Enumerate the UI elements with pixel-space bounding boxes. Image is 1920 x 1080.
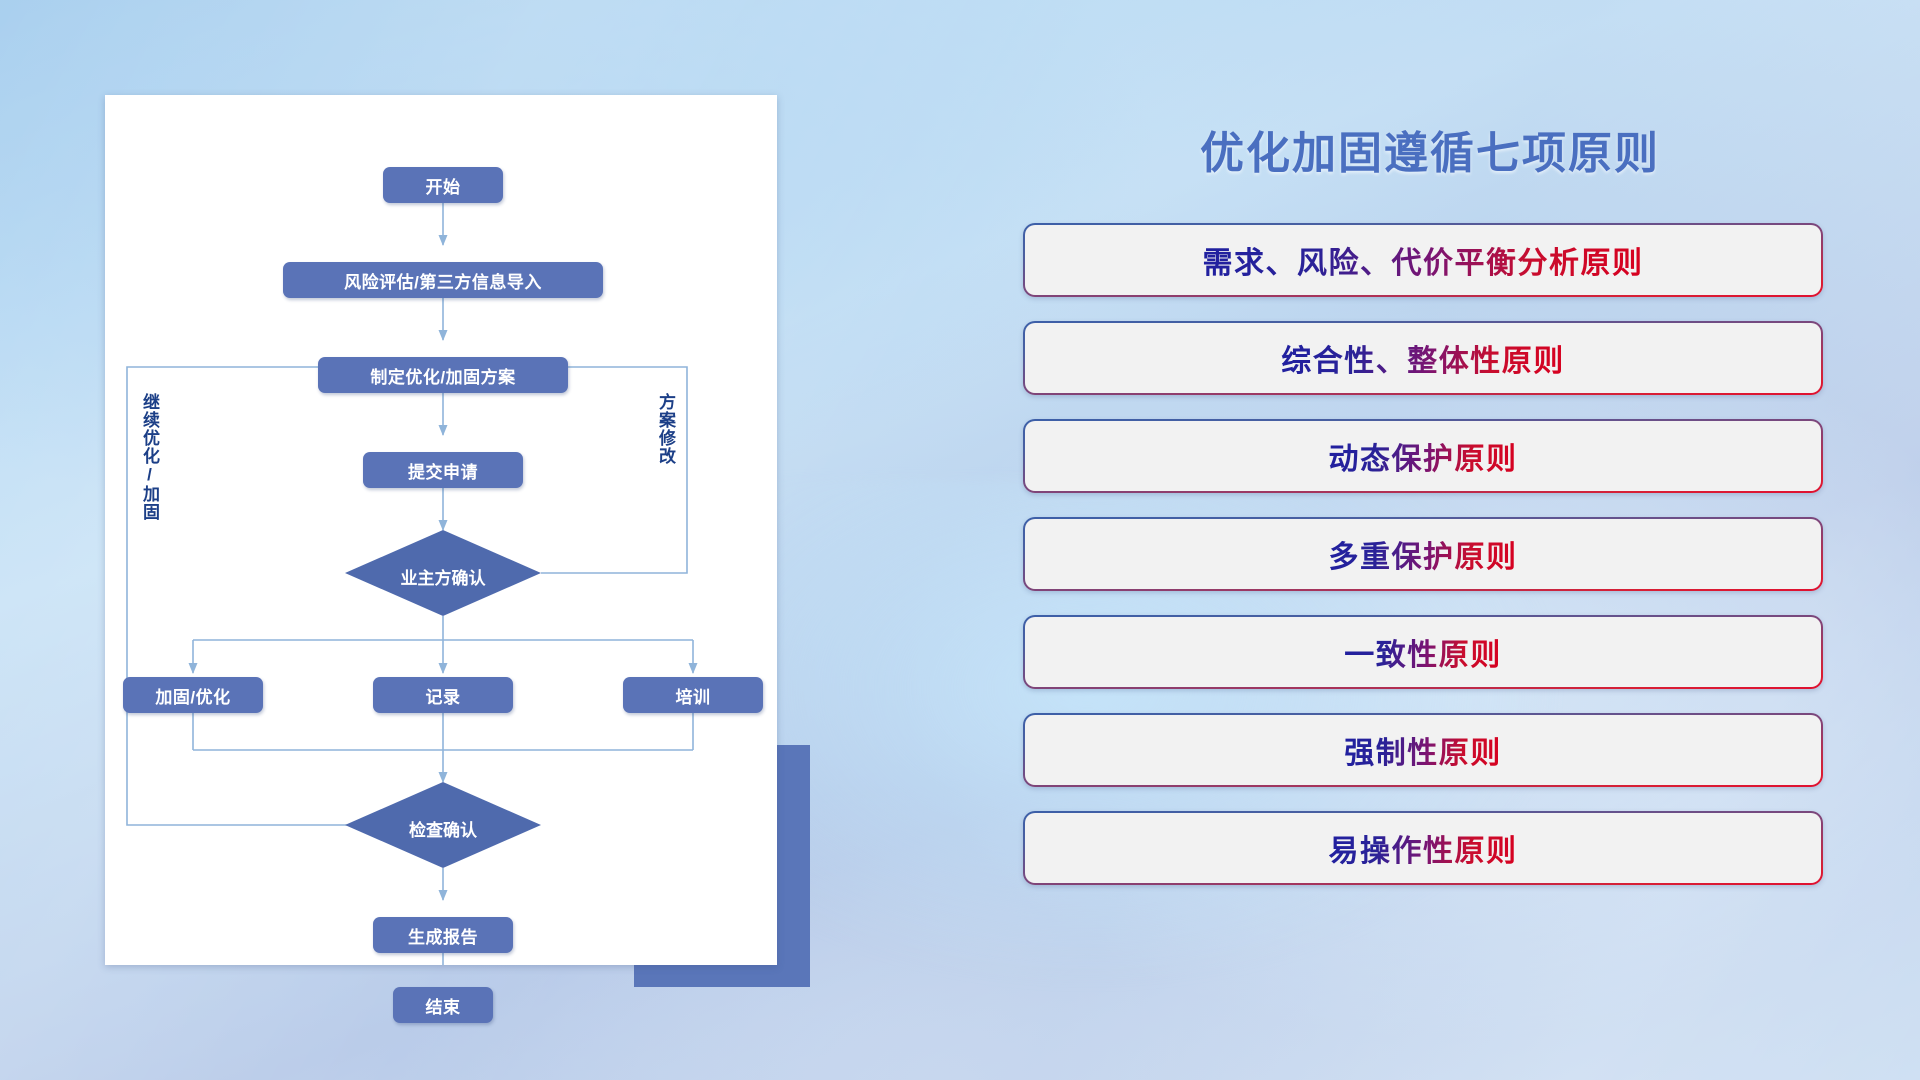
principle-card-6-label: 强制性原则 bbox=[1344, 728, 1502, 772]
flow-node-start-label: 开始 bbox=[426, 173, 461, 198]
principle-card-6-body: 强制性原则 bbox=[1025, 715, 1821, 785]
principle-card-2[interactable]: 综合性、整体性原则 bbox=[1023, 321, 1823, 395]
flow-node-end[interactable]: 结束 bbox=[393, 987, 493, 1023]
flow-node-plan[interactable]: 制定优化/加固方案 bbox=[318, 357, 568, 393]
principle-card-5[interactable]: 一致性原则 bbox=[1023, 615, 1823, 689]
flow-node-reinforce-label: 加固/优化 bbox=[155, 683, 230, 708]
principle-card-4[interactable]: 多重保护原则 bbox=[1023, 517, 1823, 591]
principles-list: 需求、风险、代价平衡分析原则 综合性、整体性原则 动态保护原则 多重保护原则 一… bbox=[1023, 223, 1823, 909]
flow-node-end-label: 结束 bbox=[426, 993, 461, 1018]
principle-card-4-body: 多重保护原则 bbox=[1025, 519, 1821, 589]
flow-node-report[interactable]: 生成报告 bbox=[373, 917, 513, 953]
flow-node-train[interactable]: 培训 bbox=[623, 677, 763, 713]
principles-section: 优化加固遵循七项原则 需求、风险、代价平衡分析原则 综合性、整体性原则 动态保护… bbox=[1020, 95, 1840, 985]
principle-card-7-body: 易操作性原则 bbox=[1025, 813, 1821, 883]
flowchart-panel: 开始 风险评估/第三方信息导入 制定优化/加固方案 提交申请 加固/优化 记录 … bbox=[105, 95, 777, 965]
flow-node-reinforce[interactable]: 加固/优化 bbox=[123, 677, 263, 713]
flow-node-submit-label: 提交申请 bbox=[408, 458, 478, 483]
edge-label-plan-revision: 方案修改 bbox=[657, 393, 674, 493]
principle-card-7[interactable]: 易操作性原则 bbox=[1023, 811, 1823, 885]
decision-inspect bbox=[345, 782, 541, 868]
page-title: 优化加固遵循七项原则 bbox=[1020, 117, 1840, 181]
principle-card-3[interactable]: 动态保护原则 bbox=[1023, 419, 1823, 493]
principle-card-2-label: 综合性、整体性原则 bbox=[1281, 336, 1565, 380]
principle-card-3-body: 动态保护原则 bbox=[1025, 421, 1821, 491]
decision-owner-confirm bbox=[345, 530, 541, 616]
flowchart: 开始 风险评估/第三方信息导入 制定优化/加固方案 提交申请 加固/优化 记录 … bbox=[105, 95, 777, 965]
flow-node-plan-label: 制定优化/加固方案 bbox=[370, 363, 515, 388]
flow-node-start[interactable]: 开始 bbox=[383, 167, 503, 203]
principle-card-1[interactable]: 需求、风险、代价平衡分析原则 bbox=[1023, 223, 1823, 297]
flowchart-connectors bbox=[105, 95, 777, 965]
flow-node-risk-assessment[interactable]: 风险评估/第三方信息导入 bbox=[283, 262, 603, 298]
edge-label-continue-optimize: 继续优化/加固 bbox=[141, 393, 158, 533]
flow-node-record-label: 记录 bbox=[426, 683, 461, 708]
principle-card-7-label: 易操作性原则 bbox=[1329, 826, 1518, 870]
principle-card-1-label: 需求、风险、代价平衡分析原则 bbox=[1203, 238, 1644, 282]
flow-node-submit[interactable]: 提交申请 bbox=[363, 452, 523, 488]
principle-card-1-body: 需求、风险、代价平衡分析原则 bbox=[1025, 225, 1821, 295]
principle-card-2-body: 综合性、整体性原则 bbox=[1025, 323, 1821, 393]
flow-node-train-label: 培训 bbox=[676, 683, 711, 708]
principle-card-5-body: 一致性原则 bbox=[1025, 617, 1821, 687]
principle-card-3-label: 动态保护原则 bbox=[1329, 434, 1518, 478]
principle-card-6[interactable]: 强制性原则 bbox=[1023, 713, 1823, 787]
flow-node-report-label: 生成报告 bbox=[408, 923, 478, 948]
principle-card-5-label: 一致性原则 bbox=[1344, 630, 1502, 674]
flow-node-record[interactable]: 记录 bbox=[373, 677, 513, 713]
flow-node-risk-assessment-label: 风险评估/第三方信息导入 bbox=[344, 268, 542, 293]
principle-card-4-label: 多重保护原则 bbox=[1329, 532, 1518, 576]
